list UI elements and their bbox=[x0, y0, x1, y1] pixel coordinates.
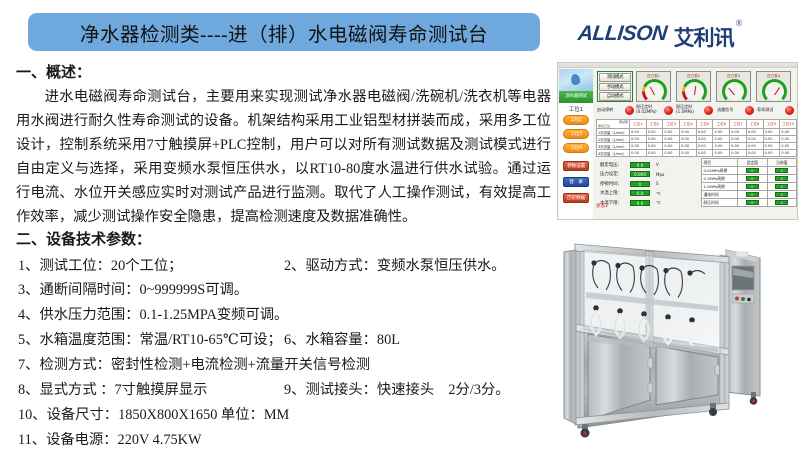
table-column-header: 工位8 bbox=[746, 120, 763, 129]
hmi-setpoint-value[interactable]: 0.0 bbox=[630, 162, 650, 168]
table-cell: 0.00 bbox=[780, 129, 797, 136]
parameter-left-text: 7、检测方式：密封性检测+电流检测+流量开关信号检测 bbox=[18, 353, 370, 378]
table-row-header: 2次流量（L/min） bbox=[597, 136, 630, 143]
table-cell: 0.00 bbox=[730, 143, 747, 150]
hmi-setpoint-unit: ℃ bbox=[656, 200, 661, 205]
table-row-header: 1次流量（L/min） bbox=[597, 129, 630, 136]
table-cell: 0.00 bbox=[746, 129, 763, 136]
parameter-left-text: 5、水箱温度范围：常温/RT10-65℃可设； bbox=[18, 328, 284, 353]
table-row: 4次流量（L/min）0.000.000.000.000.000.000.000… bbox=[597, 150, 797, 157]
table-cell: 0.00 bbox=[696, 129, 713, 136]
hmi-status-life-test: 寿命测试 bbox=[757, 104, 794, 116]
document-body: 一、概述： 进水电磁阀寿命测试台，主要用来实现测试净水器电磁阀/洗碗机/洗衣机等… bbox=[8, 62, 553, 450]
table-cell: 0 bbox=[738, 191, 768, 199]
parameter-right-text: 9、测试接头：快速接头 2分/3分。 bbox=[284, 378, 510, 403]
table-cell: 0.00 bbox=[646, 150, 663, 157]
hmi-mode-auto-button[interactable]: 自动模式 bbox=[599, 92, 631, 101]
table-cell: 0.00 bbox=[680, 136, 697, 143]
hmi-value-chip: 0 bbox=[775, 184, 788, 189]
table-body: 1次流量（L/min）0.000.000.000.000.000.000.000… bbox=[597, 129, 797, 157]
table-corner-cell: 测试项测试工位 bbox=[597, 120, 630, 129]
hmi-setpoint-row: 压力设定：0.000Mpa bbox=[600, 170, 680, 180]
hmi-station-4-button[interactable]: 工位4 bbox=[563, 143, 589, 153]
hmi-mode-button-group: 测试模式 手动模式 自动模式 bbox=[597, 71, 633, 102]
hmi-value-chip: 0 bbox=[746, 176, 759, 181]
table-cell: 0.00 bbox=[680, 150, 697, 157]
hmi-setpoint-row: 停顿时间：0S bbox=[600, 179, 680, 189]
hmi-login-button[interactable]: 登 录 bbox=[563, 177, 589, 187]
table-row: 2次流量（L/min）0.000.000.000.000.000.000.000… bbox=[597, 136, 797, 143]
hmi-mode-manual-button[interactable]: 手动模式 bbox=[599, 83, 631, 92]
table-cell: 0.00 bbox=[713, 129, 730, 136]
table-row-header: 3次流量（L/min） bbox=[597, 143, 630, 150]
table-cell: 0 bbox=[767, 175, 797, 183]
table-header-row: 测试项测试工位工位1工位2工位3工位4工位5工位6工位7工位8工位9工位10 bbox=[597, 120, 797, 129]
hmi-setpoint-label: 水温上限： bbox=[600, 190, 630, 196]
hmi-setpoint-value[interactable]: 0.000 bbox=[630, 171, 650, 177]
table-cell: 0 bbox=[767, 183, 797, 191]
table-cell: 0 bbox=[767, 167, 797, 175]
table-row: 1次流量（L/min）0.000.000.000.000.000.000.000… bbox=[597, 129, 797, 136]
table-corner-bottom: 测试工位 bbox=[598, 124, 628, 128]
table-cell: 0.00 bbox=[696, 143, 713, 150]
table-row-header: 1.0MPa周期 bbox=[702, 183, 738, 191]
table-cell: 0.00 bbox=[780, 150, 797, 157]
hmi-value-chip: 0 bbox=[746, 168, 759, 173]
hmi-status-label: 耐压定时 (0.02MPa) bbox=[636, 105, 662, 115]
hmi-station-3-button[interactable]: 工位3 bbox=[563, 129, 589, 139]
section-heading-overview: 一、概述： bbox=[16, 62, 553, 85]
hmi-value-chip: 0 bbox=[746, 200, 759, 205]
table-cell: 0 bbox=[738, 167, 768, 175]
hmi-pressure-gauge-2: 压力表2 bbox=[676, 71, 711, 102]
hmi-value-chip: 0 bbox=[746, 184, 759, 189]
page-title-banner: 净水器检测类----进（排）水电磁阀寿命测试台 bbox=[28, 13, 540, 51]
hmi-brand-banner: 净水器测试 bbox=[559, 91, 593, 103]
table-cell: 0.00 bbox=[630, 143, 647, 150]
hmi-setpoint-label: 水温下限： bbox=[600, 200, 630, 206]
logo-english-text: ALLISON bbox=[577, 22, 668, 46]
parameter-right-text: 6、水箱容量：80L bbox=[284, 328, 400, 353]
table-cell: 0.00 bbox=[630, 129, 647, 136]
table-column-header: 当前值 bbox=[767, 159, 797, 167]
hmi-setpoint-unit: Mpa bbox=[656, 172, 664, 177]
table-cell: 0.00 bbox=[663, 143, 680, 150]
hmi-screen-image: 净水器测试 工位1 工位2 工位3 工位4 参数设置 登 录 历史数据 状态2 … bbox=[557, 62, 798, 220]
table-cell: 0.00 bbox=[680, 129, 697, 136]
table-column-header: 工位10 bbox=[780, 120, 797, 129]
status-lamp-icon bbox=[625, 106, 634, 115]
table-cell: 0.00 bbox=[646, 136, 663, 143]
page-title: 净水器检测类----进（排）水电磁阀寿命测试台 bbox=[80, 18, 488, 47]
hmi-setpoint-row: 水温上限：0.0℃ bbox=[600, 189, 680, 199]
parameter-left-text: 4、供水压力范围：0.1-1.25MPA变频可调。 bbox=[18, 303, 288, 328]
slide-page: 净水器检测类----进（排）水电磁阀寿命测试台 ALLISON 艾利讯 ® 一、… bbox=[0, 0, 800, 450]
table-cell: 0.00 bbox=[713, 143, 730, 150]
table-row: 0.3MPa周期00 bbox=[702, 175, 797, 183]
table-column-header: 项目 bbox=[702, 159, 738, 167]
hmi-brand-icon bbox=[559, 69, 593, 91]
status-lamp-icon bbox=[745, 106, 754, 115]
parameter-row: 5、水箱温度范围：常温/RT10-65℃可设；6、水箱容量：80L bbox=[18, 328, 553, 353]
hmi-sidebar: 净水器测试 工位1 工位2 工位3 工位4 参数设置 登 录 历史数据 bbox=[559, 69, 593, 220]
registered-trademark-icon: ® bbox=[736, 18, 743, 28]
hmi-status-label: 寿命测试 bbox=[757, 108, 783, 113]
parameter-left-text: 10、设备尺寸：1850X800X1650 单位：MM bbox=[18, 403, 289, 428]
hmi-status-hold-timer-low: 耐压定时 (0.02MPa) bbox=[636, 104, 673, 116]
left-side-panel bbox=[564, 250, 576, 424]
table-cell: 0.00 bbox=[780, 143, 797, 150]
hmi-setpoint-unit: S bbox=[656, 181, 659, 186]
table-row-header: 通电时间 bbox=[702, 191, 738, 199]
hmi-window-titlebar bbox=[558, 63, 798, 68]
parameter-left-text: 1、测试工位：20个工位； bbox=[18, 254, 284, 279]
machine-photo bbox=[560, 232, 798, 446]
hmi-pressure-gauge-1: 压力表1 bbox=[636, 71, 671, 102]
hmi-setpoint-value[interactable]: 0 bbox=[630, 181, 650, 187]
table-column-header: 工位5 bbox=[696, 120, 713, 129]
hmi-setpoint-value[interactable]: 0.0 bbox=[630, 200, 650, 206]
hmi-setpoint-label: 停顿时间： bbox=[600, 181, 630, 187]
hmi-active-station-label: 工位1 bbox=[559, 105, 593, 113]
hmi-status-start-stop: 启动停转 bbox=[597, 104, 634, 116]
hmi-pressure-gauge-3: 压力表3 bbox=[716, 71, 751, 102]
table-cell: 0.00 bbox=[763, 150, 780, 157]
hmi-setpoint-row: 水温下限：0.0℃ bbox=[600, 198, 680, 208]
table-row-header: 0.02MPa周期 bbox=[702, 167, 738, 175]
parameter-row: 3、通断间隔时间：0~999999S可调。 bbox=[18, 278, 553, 303]
parameter-row: 7、检测方式：密封性检测+电流检测+流量开关信号检测 bbox=[18, 353, 553, 378]
hmi-station-2-button[interactable]: 工位2 bbox=[563, 115, 589, 125]
table-cell: 0.00 bbox=[763, 129, 780, 136]
logo-chinese-text: 艾利讯 bbox=[674, 22, 734, 52]
table-cell: 0.00 bbox=[696, 136, 713, 143]
table-column-header: 工位4 bbox=[680, 120, 697, 129]
table-cell: 0.00 bbox=[780, 136, 797, 143]
gauge-face bbox=[765, 82, 784, 101]
status-lamp-icon bbox=[664, 106, 673, 115]
hmi-value-chip: 0 bbox=[775, 168, 788, 173]
table-row: 耐压时间00 bbox=[702, 199, 797, 207]
table-cell: 0.00 bbox=[630, 136, 647, 143]
table-column-header: 工位3 bbox=[663, 120, 680, 129]
hmi-settings-button[interactable]: 参数设置 bbox=[563, 161, 589, 171]
hmi-status-hold-timer-high: 耐压定时 (1.0MPa) bbox=[676, 104, 713, 116]
hmi-setpoint-unit: ℃ bbox=[656, 191, 661, 196]
hmi-value-chip: 0 bbox=[775, 200, 788, 205]
table-cell: 0.00 bbox=[646, 143, 663, 150]
hmi-value-chip: 0 bbox=[775, 192, 788, 197]
hmi-history-button[interactable]: 历史数据 bbox=[563, 193, 589, 203]
overview-paragraph: 进水电磁阀寿命测试台，主要用来实现测试净水器电磁阀/洗碗机/洗衣机等电器用水阀进… bbox=[16, 85, 551, 229]
table-column-header: 工位7 bbox=[730, 120, 747, 129]
table-cell: 0.00 bbox=[713, 136, 730, 143]
table-cell: 0.00 bbox=[763, 143, 780, 150]
hmi-status-label: 启动停转 bbox=[597, 108, 623, 113]
parameter-row: 8、显式方式 ：7寸触摸屏显示9、测试接头：快速接头 2分/3分。 bbox=[18, 378, 553, 403]
parameter-row: 10、设备尺寸：1850X800X1650 单位：MM bbox=[18, 403, 553, 428]
hmi-flow-data-table: 测试项测试工位工位1工位2工位3工位4工位5工位6工位7工位8工位9工位10 1… bbox=[596, 119, 797, 157]
status-lamp-icon bbox=[704, 106, 713, 115]
table-cell: 0.00 bbox=[680, 143, 697, 150]
table-row-header: 耐压时间 bbox=[702, 199, 738, 207]
table-cell: 0.00 bbox=[663, 129, 680, 136]
hmi-brand-label: 净水器测试 bbox=[559, 91, 593, 103]
hmi-cycle-summary-table: 项目设定值当前值 0.02MPa周期000.3MPa周期001.0MPa周期00… bbox=[701, 158, 797, 207]
table-cell: 0 bbox=[738, 199, 768, 207]
parameter-right-text: 2、驱动方式：变频水泵恒压供水。 bbox=[284, 254, 506, 279]
table-column-header: 工位6 bbox=[713, 120, 730, 129]
section-heading-parameters: 二、设备技术参数： bbox=[16, 229, 553, 252]
table-cell: 0.00 bbox=[630, 150, 647, 157]
parameter-left-text: 3、通断间隔时间：0~999999S可调。 bbox=[18, 278, 248, 303]
hmi-status-flow-signal: 流量信号 bbox=[717, 104, 754, 116]
hmi-setpoint-unit: V bbox=[656, 162, 659, 167]
parameter-row: 4、供水压力范围：0.1-1.25MPA变频可调。 bbox=[18, 303, 553, 328]
table-cell: 0.00 bbox=[696, 150, 713, 157]
company-logo: ALLISON 艾利讯 ® bbox=[578, 22, 743, 52]
gauge-face bbox=[645, 82, 664, 101]
hmi-setpoint-list: 额定电压：0.0V压力设定：0.000Mpa停顿时间：0S水温上限：0.0℃水温… bbox=[600, 160, 680, 208]
hmi-setpoint-label: 压力设定： bbox=[600, 171, 630, 177]
gauge-face bbox=[725, 82, 744, 101]
table-row: 3次流量（L/min）0.000.000.000.000.000.000.000… bbox=[597, 143, 797, 150]
status-lamp-icon bbox=[785, 106, 794, 115]
parameter-list: 1、测试工位：20个工位；2、驱动方式：变频水泵恒压供水。3、通断间隔时间：0~… bbox=[8, 254, 553, 450]
control-cabinet bbox=[726, 250, 760, 396]
table-column-header: 设定值 bbox=[738, 159, 768, 167]
table-cell: 0.00 bbox=[763, 136, 780, 143]
table-row: 0.02MPa周期00 bbox=[702, 167, 797, 175]
hmi-setpoint-row: 额定电压：0.0V bbox=[600, 160, 680, 170]
hmi-setpoint-value[interactable]: 0.0 bbox=[630, 190, 650, 196]
table-cell: 0.00 bbox=[746, 143, 763, 150]
table-column-header: 工位2 bbox=[646, 120, 663, 129]
table-row: 1.0MPa周期00 bbox=[702, 183, 797, 191]
table-cell: 0.00 bbox=[730, 150, 747, 157]
table-cell: 0.00 bbox=[663, 136, 680, 143]
table-cell: 0.00 bbox=[730, 136, 747, 143]
hmi-value-chip: 0 bbox=[775, 176, 788, 181]
hmi-status-label: 耐压定时 (1.0MPa) bbox=[676, 105, 702, 115]
table-cell: 0.00 bbox=[663, 150, 680, 157]
hmi-mode-test-button[interactable]: 测试模式 bbox=[599, 73, 631, 82]
table-header-row: 项目设定值当前值 bbox=[702, 159, 797, 167]
table-cell: 0 bbox=[767, 191, 797, 199]
hmi-value-chip: 0 bbox=[746, 192, 759, 197]
table-cell: 0.00 bbox=[646, 129, 663, 136]
parameter-row: 11、设备电源：220V 4.75KW bbox=[18, 428, 553, 450]
parameter-row: 1、测试工位：20个工位；2、驱动方式：变频水泵恒压供水。 bbox=[18, 254, 553, 279]
table-body: 0.02MPa周期000.3MPa周期001.0MPa周期00通电时间00耐压时… bbox=[702, 167, 797, 207]
table-row-header: 0.3MPa周期 bbox=[702, 175, 738, 183]
table-column-header: 工位9 bbox=[763, 120, 780, 129]
hmi-pressure-gauge-4: 压力表4 bbox=[756, 71, 791, 102]
table-row-header: 4次流量（L/min） bbox=[597, 150, 630, 157]
table-cell: 0 bbox=[738, 183, 768, 191]
table-cell: 0 bbox=[738, 175, 768, 183]
table-column-header: 工位1 bbox=[630, 120, 647, 129]
table-cell: 0.00 bbox=[746, 150, 763, 157]
parameter-left-text: 8、显式方式 ：7寸触摸屏显示 bbox=[18, 378, 284, 403]
hmi-setpoint-label: 额定电压： bbox=[600, 162, 630, 168]
table-cell: 0.00 bbox=[746, 136, 763, 143]
hmi-status-label: 流量信号 bbox=[717, 108, 743, 113]
table-cell: 0.00 bbox=[730, 129, 747, 136]
table-cell: 0 bbox=[767, 199, 797, 207]
table-row: 通电时间00 bbox=[702, 191, 797, 199]
parameter-left-text: 11、设备电源：220V 4.75KW bbox=[18, 428, 201, 450]
table-cell: 0.00 bbox=[713, 150, 730, 157]
